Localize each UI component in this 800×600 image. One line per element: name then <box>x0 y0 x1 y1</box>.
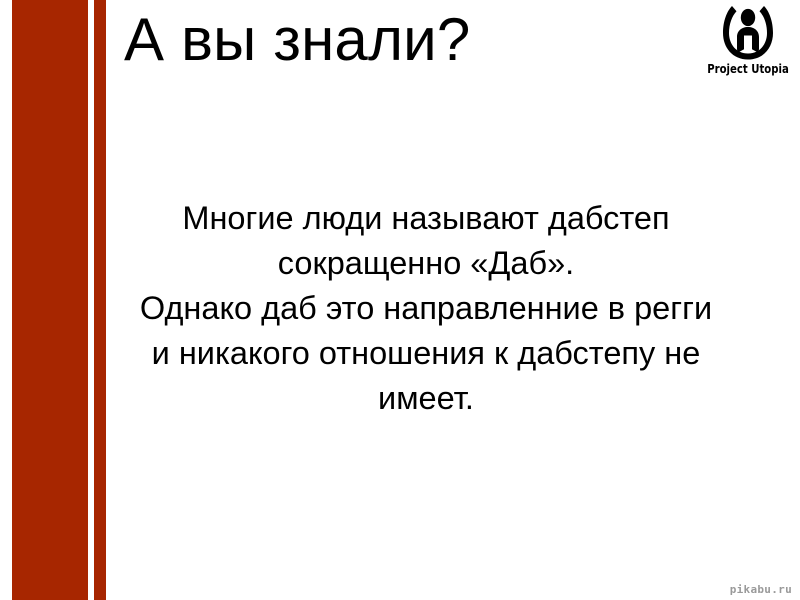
brand-logo-caption: Project Utopia <box>705 61 791 76</box>
accent-bar-wide <box>12 0 88 600</box>
body-text-block: Многие люди называют дабстеп сокращенно … <box>126 196 726 421</box>
body-line-3: Однако даб это направленние в регги <box>126 286 726 331</box>
project-utopia-figure-icon <box>721 4 775 60</box>
page-title: А вы знали? <box>124 2 684 78</box>
brand-logo: Project Utopia <box>700 4 796 84</box>
slide-canvas: А вы знали? Project Utopia Многие люди н… <box>0 0 800 600</box>
body-line-2: сокращенно «Даб». <box>126 241 726 286</box>
source-watermark: pikabu.ru <box>730 583 792 596</box>
body-line-4: и никакого отношения к дабстепу не <box>126 331 726 376</box>
accent-bar-thin <box>94 0 106 600</box>
body-line-5: имеет. <box>126 376 726 421</box>
body-line-1: Многие люди называют дабстеп <box>126 196 726 241</box>
